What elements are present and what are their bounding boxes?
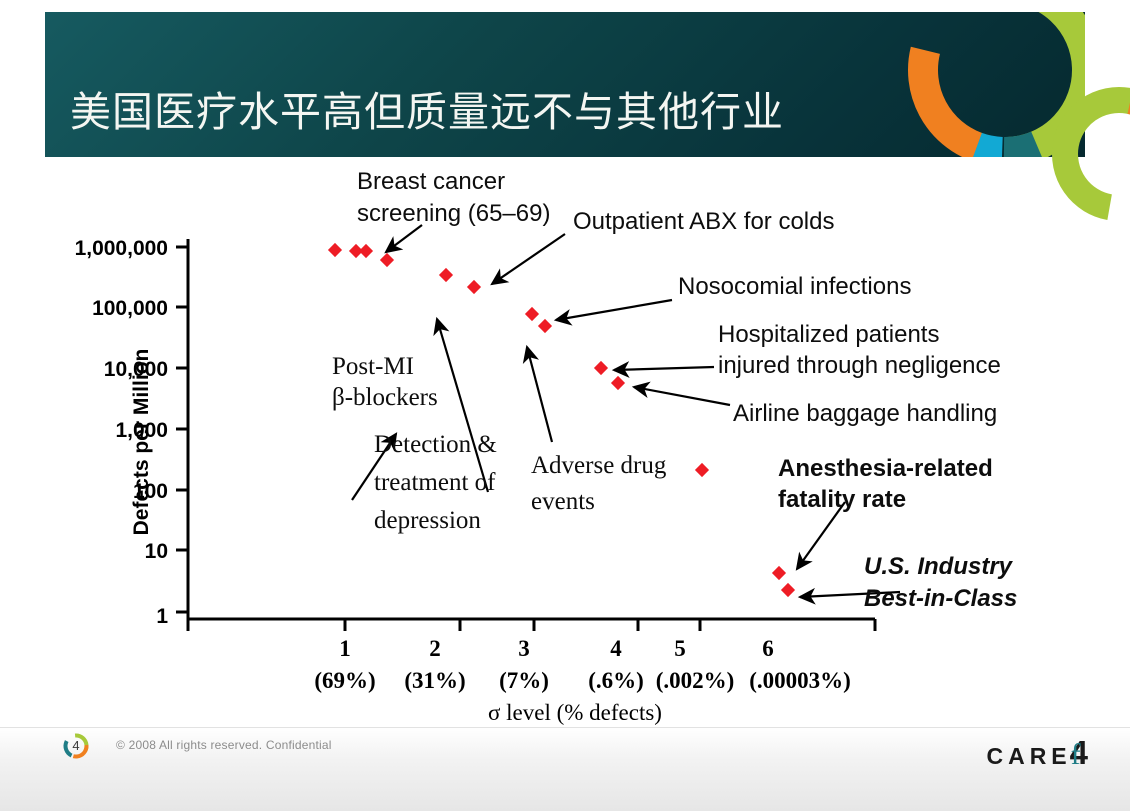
logo-f-text: f — [1071, 738, 1081, 772]
annotation-hospitalized-line2: injured through negligence — [718, 352, 1001, 379]
carefx-logo: CARE f 4 — [986, 734, 1088, 768]
annotation-detection-line2: treatment of — [374, 469, 496, 496]
x-axis-title: σ level (% defects) — [488, 700, 662, 725]
y-axis-title: Defects per Million — [130, 349, 153, 536]
data-point — [695, 463, 709, 477]
data-point — [467, 280, 481, 294]
slide-canvas: 美国医疗水平高但质量远不与其他行业 — [0, 0, 1130, 811]
y-tick-label-100000: 100,000 — [92, 297, 168, 320]
data-point — [538, 319, 552, 333]
annotation-adverse-drug-line1: Adverse drug — [531, 452, 667, 479]
x-tick-pct-4: (.6%) — [588, 668, 644, 693]
x-tick-label-6: 6 — [762, 636, 774, 661]
annotation-detection-line3: depression — [374, 507, 481, 534]
x-tick-label-1: 1 — [339, 636, 351, 661]
data-point — [525, 307, 539, 321]
x-tick-label-5: 5 — [674, 636, 686, 661]
leader-airline — [634, 387, 730, 405]
leader-hospitalized — [614, 367, 714, 370]
page-number: 4 — [62, 732, 90, 760]
six-sigma-scatter-chart: 1,000,000 100,000 10,000 1,000 100 10 1 … — [0, 157, 1130, 727]
leader-outpatient-abx — [492, 234, 565, 284]
x-tick-pct-5: (.002%) — [656, 668, 735, 693]
annotation-breast-cancer-line2: screening (65–69) — [357, 200, 550, 227]
x-tick-pct-1: (69%) — [314, 668, 375, 693]
footer-divider — [0, 727, 1130, 728]
data-point — [380, 253, 394, 267]
y-tick-label-1000000: 1,000,000 — [75, 237, 168, 260]
data-point — [328, 243, 342, 257]
annotation-breast-cancer-line1: Breast cancer — [357, 168, 505, 195]
x-tick-label-3: 3 — [518, 636, 530, 661]
copyright-text: © 2008 All rights reserved. Confidential — [116, 738, 332, 752]
y-axis-ticks — [176, 247, 188, 612]
leader-detection — [437, 319, 488, 492]
data-point — [781, 583, 795, 597]
annotation-hospitalized-line1: Hospitalized patients — [718, 321, 939, 348]
data-point — [439, 268, 453, 282]
leader-breast-cancer — [386, 225, 422, 252]
data-point — [359, 244, 373, 258]
leader-nosocomial — [556, 300, 672, 320]
x-tick-pct-2: (31%) — [404, 668, 465, 693]
annotation-outpatient-abx: Outpatient ABX for colds — [573, 208, 834, 235]
data-point — [594, 361, 608, 375]
annotation-anesthesia-line2: fatality rate — [778, 486, 906, 513]
y-tick-label-10: 10 — [145, 540, 168, 563]
x-tick-label-2: 2 — [429, 636, 441, 661]
annotation-adverse-drug-line2: events — [531, 488, 595, 515]
annotation-us-industry-line1: U.S. Industry — [864, 553, 1014, 580]
x-tick-pct-6: (.00003%) — [749, 668, 851, 693]
logo-care-text: CARE — [986, 743, 1071, 770]
page-title: 美国医疗水平高但质量远不与其他行业 — [70, 88, 784, 136]
annotation-airline-baggage: Airline baggage handling — [733, 400, 997, 427]
leader-adverse-drug — [527, 347, 552, 442]
annotation-anesthesia-line1: Anesthesia-related — [778, 455, 993, 482]
x-tick-label-4: 4 — [610, 636, 622, 661]
y-tick-label-1: 1 — [156, 605, 168, 628]
annotation-post-mi-line2: β-blockers — [332, 384, 438, 411]
annotation-post-mi-line1: Post-MI — [332, 353, 414, 380]
annotation-detection-line1: Detection & — [374, 431, 497, 458]
data-point — [772, 566, 786, 580]
x-axis-ticks — [188, 619, 875, 631]
annotation-us-industry-line2: Best-in-Class — [864, 585, 1017, 612]
x-tick-pct-3: (7%) — [499, 668, 549, 693]
data-point — [611, 376, 625, 390]
annotation-nosocomial: Nosocomial infections — [678, 273, 911, 300]
